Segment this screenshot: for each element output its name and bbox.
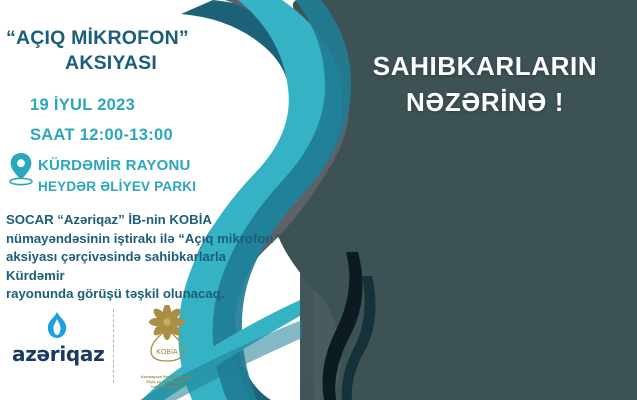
kobia-logo: KOBİA Azərbaycan Respublikasının Kiçik v… bbox=[124, 305, 209, 395]
event-time: SAAT 12:00-13:00 bbox=[30, 126, 173, 145]
headline-line-2: NƏZƏRİNƏ ! bbox=[340, 84, 630, 120]
sponsor-logos: azəriqaz K bbox=[0, 305, 300, 397]
description-line-3: aksiyası çərçivəsində sahibkarlarla Kürd… bbox=[6, 248, 286, 285]
headline-line-1: SAHIBKARLARIN bbox=[340, 48, 630, 84]
description-line-2: nümayəndəsinin iştirakı ilə “Açıq mikrof… bbox=[6, 230, 286, 249]
gas-flame-icon bbox=[44, 311, 70, 341]
venue-line-1: KÜRDƏMİR RAYONU bbox=[38, 155, 196, 176]
left-info-column: “AÇIQ MİKROFON” AKSIYASI 19 İYUL 2023 SA… bbox=[0, 0, 300, 400]
logo-divider bbox=[113, 309, 114, 383]
flower-icon: KOBİA bbox=[138, 305, 196, 369]
description-line-1: SOCAR “Azəriqaz” İB-nin KOBİA bbox=[6, 211, 286, 230]
kobia-caption: Azərbaycan Respublikasının Kiçik və Orta… bbox=[124, 375, 209, 390]
kobia-caption-line-3: İnkişafı Agentliyi bbox=[124, 385, 209, 390]
title-line-2: AKSIYASI bbox=[6, 51, 256, 76]
event-venue: KÜRDƏMİR RAYONU HEYDƏR ƏLİYEV PARKI bbox=[38, 155, 196, 197]
description-line-4: rayonunda görüşü təşkil olunacaq. bbox=[6, 285, 286, 304]
main-headline: SAHIBKARLARIN NƏZƏRİNƏ ! bbox=[340, 48, 630, 120]
azeriqaz-logo: azəriqaz bbox=[12, 311, 102, 373]
page-title: “AÇIQ MİKROFON” AKSIYASI bbox=[6, 26, 256, 76]
map-pin-icon bbox=[8, 152, 34, 186]
venue-line-2: HEYDƏR ƏLİYEV PARKI bbox=[38, 176, 196, 197]
kobia-wordmark: KOBİA bbox=[156, 347, 178, 356]
event-description: SOCAR “Azəriqaz” İB-nin KOBİA nümayəndəs… bbox=[6, 211, 286, 304]
azeriqaz-wordmark: azəriqaz bbox=[12, 342, 102, 366]
event-date: 19 İYUL 2023 bbox=[30, 96, 135, 115]
title-line-1: “AÇIQ MİKROFON” bbox=[6, 26, 256, 51]
event-poster: “AÇIQ MİKROFON” AKSIYASI 19 İYUL 2023 SA… bbox=[0, 0, 637, 400]
